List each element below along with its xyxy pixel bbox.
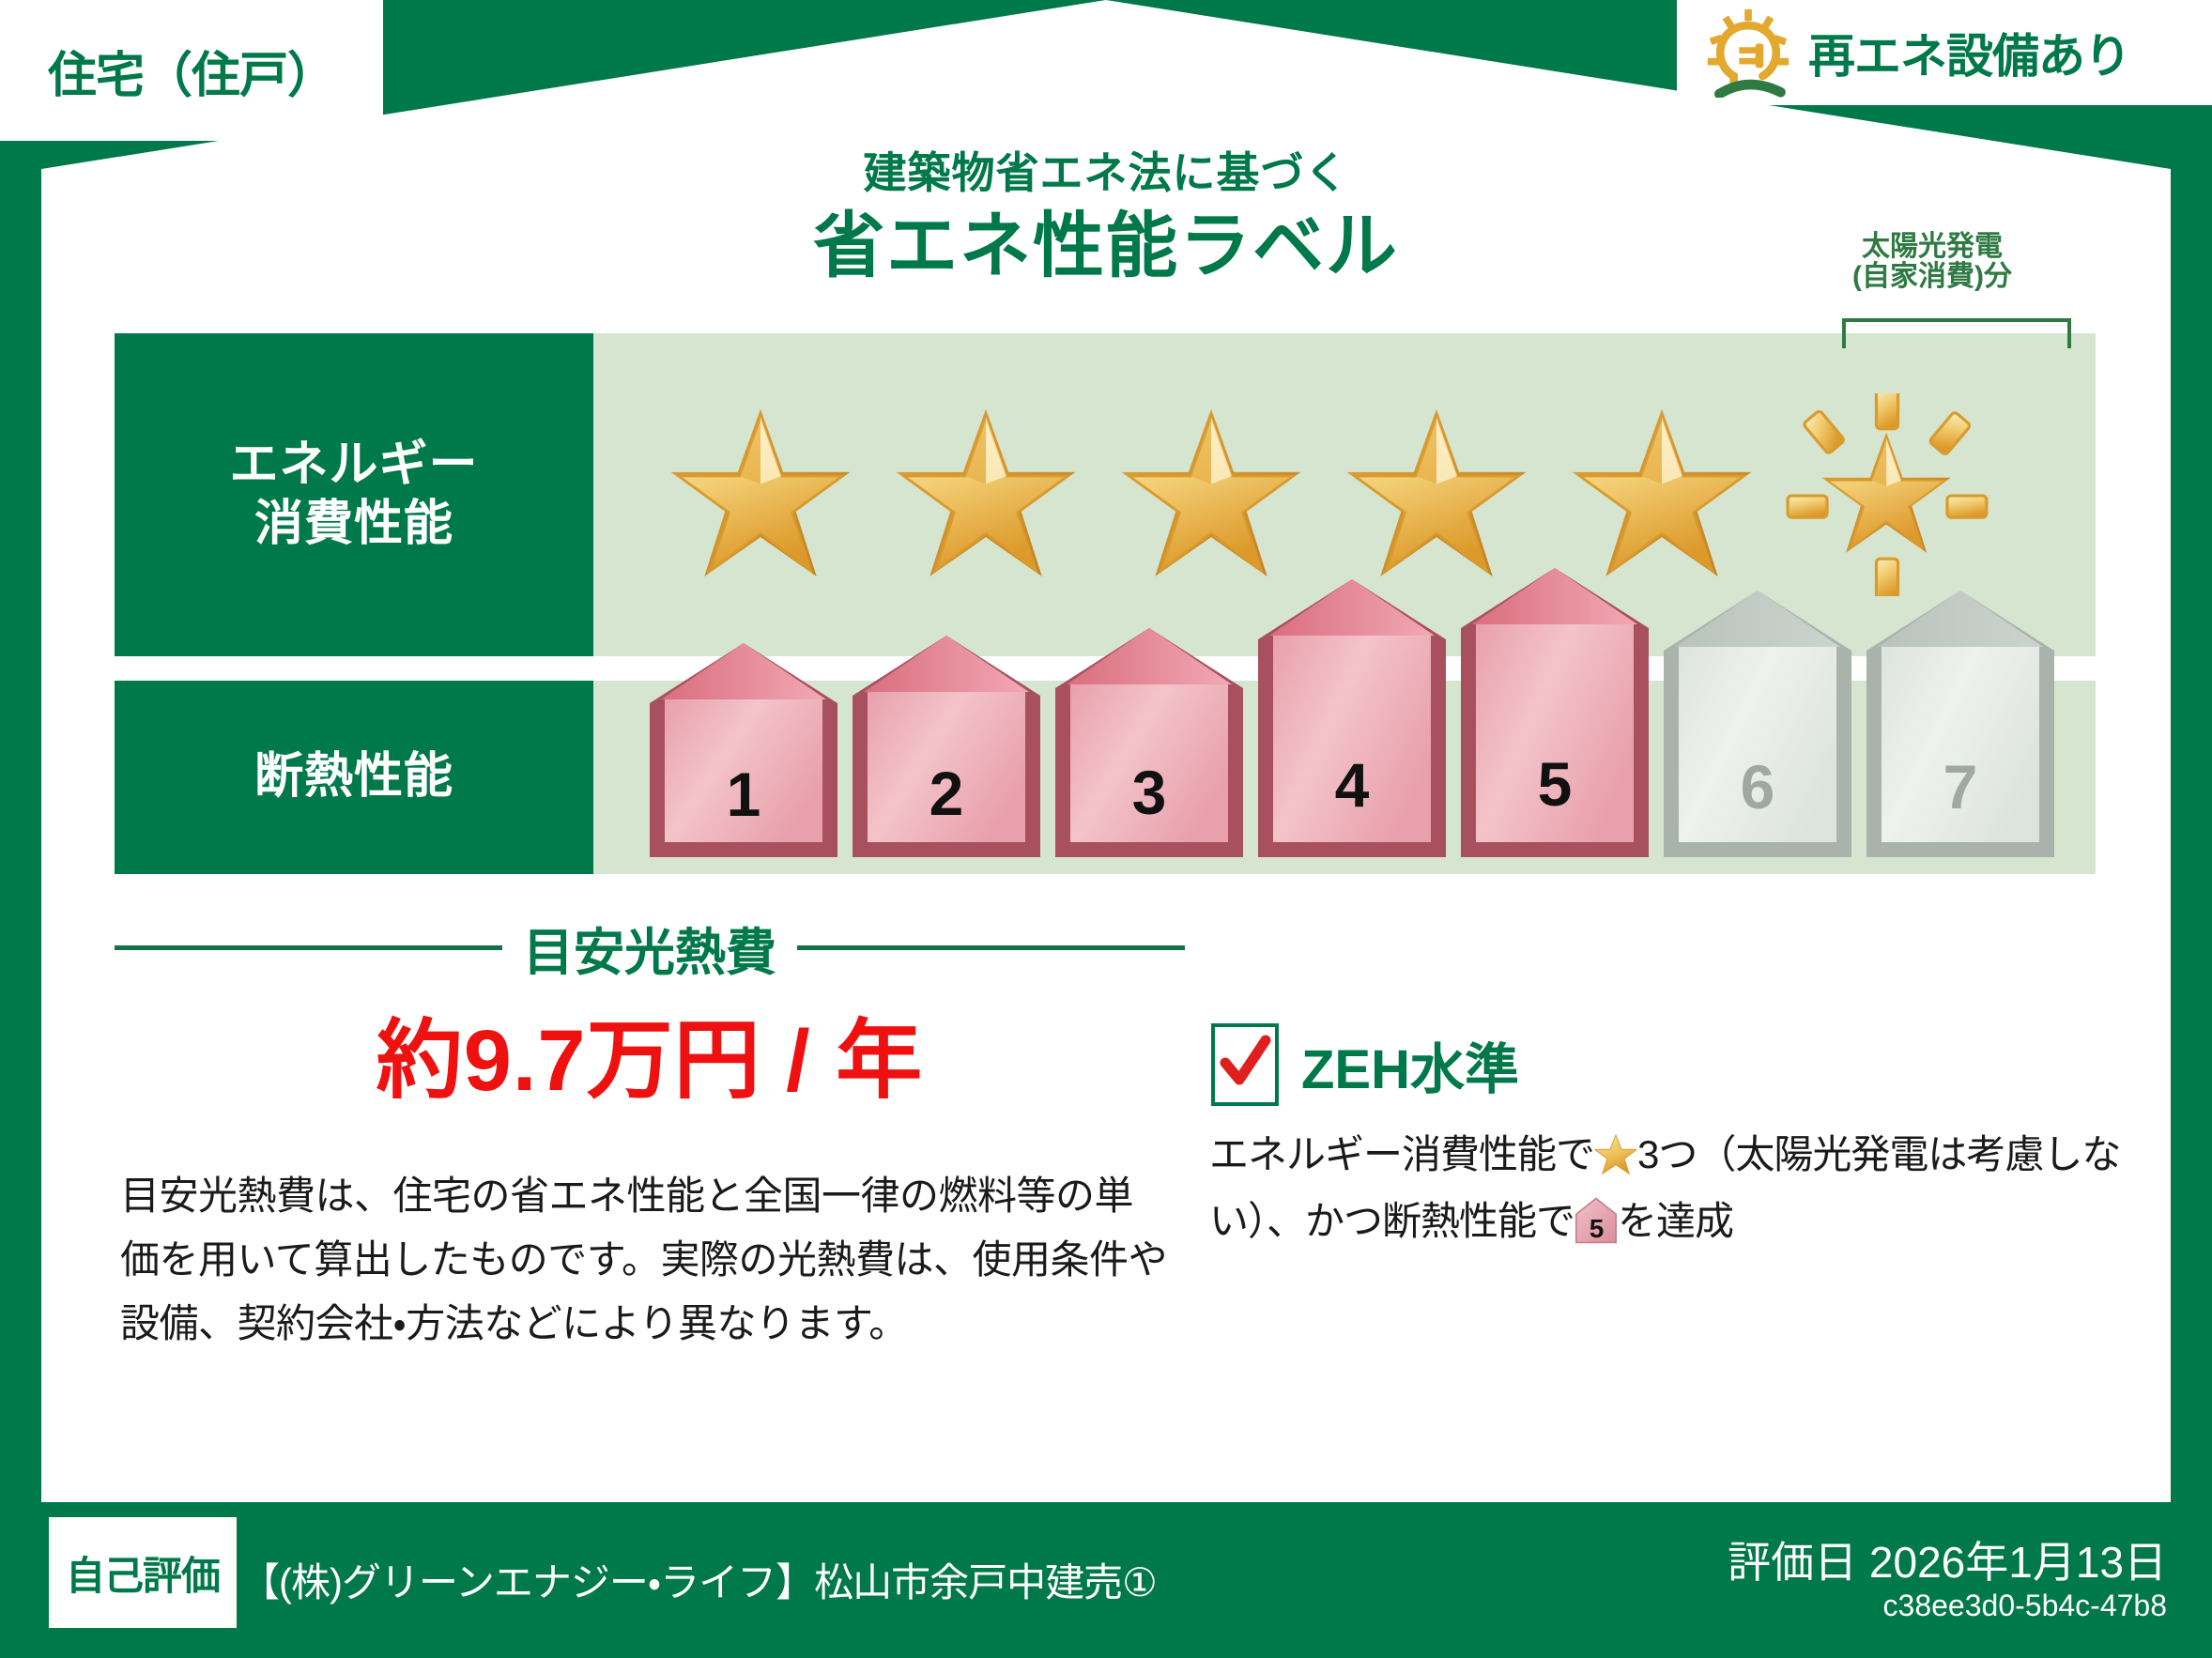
- insulation-grade-number: 1: [646, 759, 841, 830]
- footer: 自己評価 【(株)グリーンエナジー・ライフ】松山市余戸中建売① 評価日 2026…: [0, 1502, 2212, 1658]
- insulation-grade-number: 6: [1660, 751, 1855, 822]
- energy-label-line2: 消費性能: [229, 495, 478, 554]
- solar-annotation: 太陽光発電 (自家消費)分: [1801, 232, 2064, 291]
- insulation-grade-4: 4: [1254, 576, 1450, 861]
- insulation-grade-scale: 1: [593, 681, 2096, 874]
- insulation-grade-6: 6: [1660, 587, 1855, 861]
- evaluation-type-label: 自己評価: [66, 1544, 220, 1602]
- insulation-grade-number: 3: [1052, 757, 1247, 828]
- zeh-standard-header: ZEH水準: [1211, 1023, 1519, 1106]
- energy-label-line1: エネルギー: [229, 436, 478, 495]
- star-solar: [1780, 393, 1994, 596]
- insulation-grade-1: 1: [646, 639, 841, 861]
- zeh-desc-part3: を達成: [1618, 1199, 1733, 1243]
- utility-cost-description: 目安光熱費は、住宅の省エネ性能と全国一律の燃料等の単価を用いて算出したものです。…: [120, 1164, 1172, 1356]
- insulation-grade-5: 5: [1457, 564, 1652, 861]
- utility-cost-title: 目安光熱費: [523, 911, 776, 985]
- star-1: [653, 393, 868, 596]
- renewable-badge-label: 再エネ設備あり: [1808, 19, 2130, 86]
- insulation-performance-label: 断熱性能: [115, 681, 593, 874]
- insulation-label-text: 断熱性能: [254, 747, 453, 806]
- renewable-energy-badge: 再エネ設備あり: [1677, 0, 2212, 105]
- insulation-performance-panel: 1: [593, 681, 2096, 874]
- inline-house-icon: 5: [1575, 1197, 1618, 1244]
- building-type-tag: 住宅（住戸）: [0, 0, 383, 141]
- evaluation-date: 評価日 2026年1月13日: [1728, 1528, 2167, 1590]
- insulation-grade-number: 5: [1457, 748, 1652, 820]
- divider-left: [115, 945, 502, 950]
- insulation-grade-number: 4: [1254, 749, 1450, 821]
- solar-bracket: [1842, 318, 2071, 348]
- utility-cost-value: 約9.7万円 / 年: [115, 990, 1185, 1115]
- solar-annotation-line1: 太陽光発電: [1801, 232, 2064, 262]
- company-and-property: 【(株)グリーンエナジー・ライフ】松山市余戸中建売①: [240, 1551, 1157, 1608]
- star-3: [1104, 393, 1318, 596]
- insulation-grade-7: 7: [1863, 587, 2058, 861]
- energy-performance-label: エネルギー 消費性能: [115, 333, 593, 656]
- insulation-grade-number: 2: [849, 758, 1044, 829]
- building-type-label: 住宅（住戸）: [48, 36, 335, 106]
- zeh-checkbox[interactable]: [1211, 1023, 1279, 1106]
- inline-star-icon: [1594, 1129, 1637, 1171]
- insulation-grade-number: 7: [1863, 751, 2058, 822]
- solar-energy-icon: [1703, 8, 1793, 98]
- insulation-grade-3: 3: [1052, 624, 1247, 861]
- zeh-desc-part1: エネルギー消費性能で: [1209, 1132, 1594, 1176]
- inline-house-number: 5: [1575, 1216, 1618, 1242]
- divider-right: [797, 945, 1185, 950]
- star-2: [879, 393, 1093, 596]
- label-id: c38ee3d0-5b4c-47b8: [1883, 1589, 2167, 1623]
- zeh-standard-title: ZEH水準: [1301, 1025, 1519, 1104]
- evaluation-type-badge: 自己評価: [49, 1517, 237, 1628]
- insulation-grade-2: 2: [849, 632, 1044, 861]
- insulation-performance-row: 断熱性能: [115, 681, 2096, 874]
- utility-cost-header: 目安光熱費: [115, 911, 1185, 985]
- checkmark-icon: [1219, 1035, 1271, 1093]
- solar-annotation-line2: (自家消費)分: [1801, 262, 2064, 292]
- zeh-standard-description: エネルギー消費性能で 3つ（太陽光発電は考慮しない）、かつ断熱性能で 5 を達成: [1209, 1122, 2158, 1254]
